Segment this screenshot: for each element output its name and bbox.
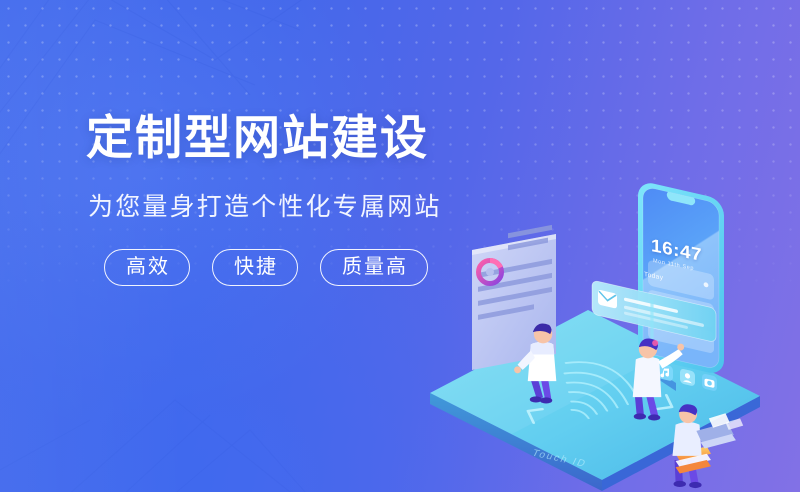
feature-pill-quality[interactable]: 质量高 bbox=[320, 249, 428, 286]
hero-banner: 定制型网站建设 为您量身打造个性化专属网站 高效 快捷 质量高 bbox=[0, 0, 800, 492]
banner-copy: 定制型网站建设 为您量身打造个性化专属网站 高效 快捷 质量高 bbox=[86, 112, 466, 286]
banner-subtitle: 为您量身打造个性化专属网站 bbox=[88, 187, 466, 223]
feature-pill-efficient[interactable]: 高效 bbox=[104, 249, 190, 286]
banner-title: 定制型网站建设 bbox=[86, 112, 466, 165]
feature-pill-fast[interactable]: 快捷 bbox=[212, 249, 298, 286]
feature-pill-list: 高效 快捷 质量高 bbox=[104, 249, 466, 286]
isometric-illustration bbox=[420, 150, 800, 492]
